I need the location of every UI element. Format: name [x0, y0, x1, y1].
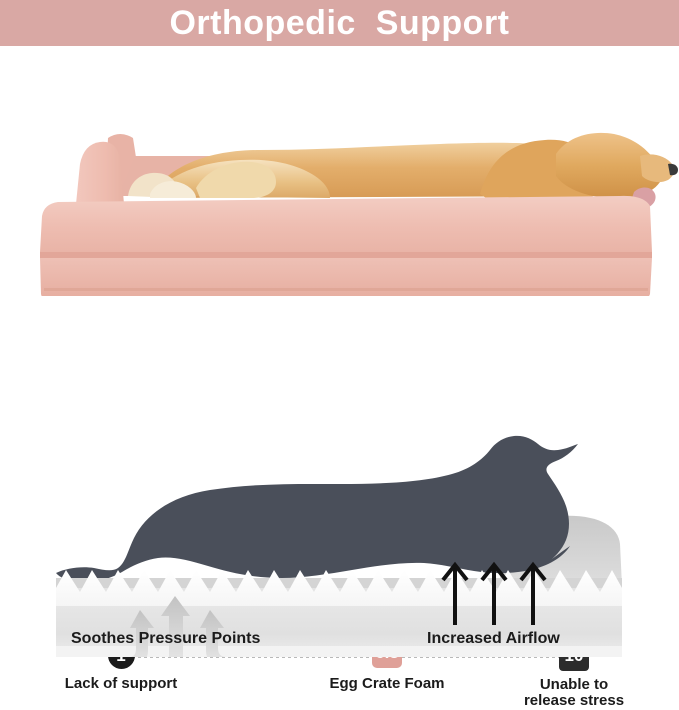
scale-stop-bottom-label: Lack of support [65, 676, 178, 693]
product-photo [0, 46, 679, 296]
bed-bolster [76, 142, 124, 204]
scale-stop-bottom-label: Egg Crate Foam [329, 676, 444, 693]
bed-base-stitch [44, 288, 648, 291]
dog-silhouette [56, 436, 578, 582]
scale-stop-bottom-label-line1: Unable to [540, 676, 608, 693]
scale-stop-bottom-label: Unable to release stress [524, 677, 624, 710]
header-banner: Orthopedic Support [0, 0, 679, 46]
caption-soothes-pressure-points: Soothes Pressure Points [71, 630, 260, 648]
caption-increased-airflow: Increased Airflow [427, 630, 560, 648]
scale-stop-bottom-label-line2: release stress [524, 692, 624, 709]
egg-crate-foam-illustration [0, 410, 679, 657]
dog-bed-illustration [0, 46, 679, 296]
page-title: Orthopedic Support [169, 6, 509, 40]
hardness-scale: Too soft 1 Lack of support Moderate hard… [0, 300, 679, 410]
bed-cushion-seam [40, 252, 652, 258]
foam-diagram [0, 410, 679, 657]
bed-top-cushion [40, 196, 652, 252]
